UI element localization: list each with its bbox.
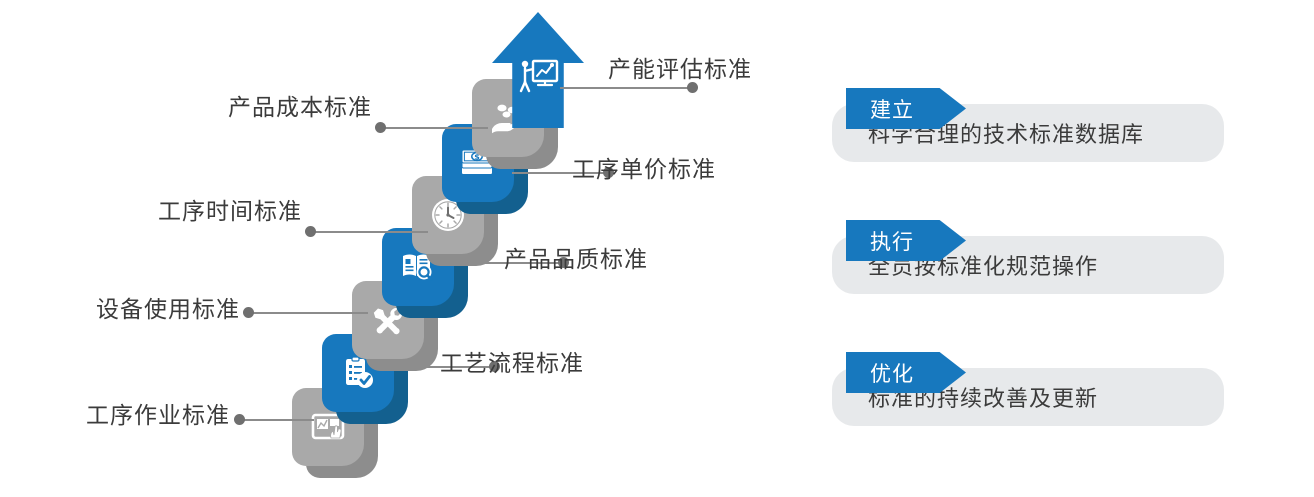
step-label-4: 产品品质标准 — [504, 240, 648, 274]
step-label-6: 工序单价标准 — [572, 150, 716, 184]
presenter-chart-icon — [517, 58, 559, 98]
connector-dot-3 — [243, 307, 254, 318]
panel-tag-label: 执行 — [870, 226, 914, 256]
connector-line-8 — [560, 87, 692, 89]
panel-tag-label: 优化 — [870, 358, 914, 388]
staircase-diagram: 工序作业标准 工艺流程标准 — [0, 0, 820, 497]
infographic-canvas: 工序作业标准 工艺流程标准 — [0, 0, 1314, 497]
connector-dot-1 — [234, 414, 245, 425]
step-label-7: 产品成本标准 — [172, 88, 372, 122]
step-label-2: 工艺流程标准 — [440, 344, 584, 378]
panel-establish[interactable]: 科学合理的技术标准数据库 建立 — [832, 88, 1224, 152]
connector-line-1 — [240, 419, 314, 421]
summary-panels: 科学合理的技术标准数据库 建立 全员按标准化规范操作 执行 标准的持续改善及更新… — [826, 0, 1314, 497]
arrow-icon-wrap — [517, 58, 559, 102]
panel-tag-label: 建立 — [870, 94, 914, 124]
step-block-8-arrow[interactable] — [492, 12, 584, 128]
connector-dot-7 — [375, 122, 386, 133]
step-label-3: 设备使用标准 — [40, 290, 240, 324]
panel-optimize[interactable]: 标准的持续改善及更新 优化 — [832, 352, 1224, 416]
step-label-8: 产能评估标准 — [608, 50, 752, 84]
step-label-5: 工序时间标准 — [102, 192, 302, 226]
connector-line-3 — [250, 312, 368, 314]
connector-line-7 — [382, 127, 488, 129]
connector-dot-5 — [305, 226, 316, 237]
step-label-1: 工序作业标准 — [30, 396, 230, 430]
panel-execute[interactable]: 全员按标准化规范操作 执行 — [832, 220, 1224, 284]
connector-line-5 — [312, 231, 428, 233]
